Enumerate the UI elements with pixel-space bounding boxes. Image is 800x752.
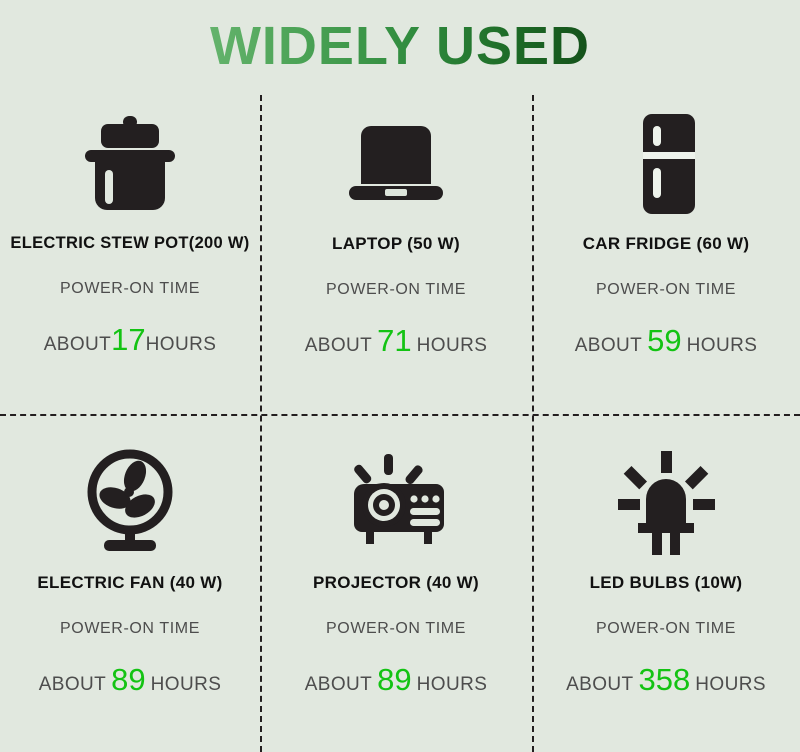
car-fridge-icon <box>629 100 703 228</box>
appliance-name: ELECTRIC STEW POT(200 W) <box>10 234 249 253</box>
laptop-icon <box>345 100 447 228</box>
power-on-time-value: ABOUT17HOURS <box>44 322 217 358</box>
about-prefix: ABOUT <box>305 335 372 357</box>
appliance-card-led-bulbs: LED BULBS (10W) POWER-ON TIME ABOUT358HO… <box>532 415 800 752</box>
hours-unit: HOURS <box>417 674 488 696</box>
hours-number: 17 <box>111 322 145 358</box>
hours-unit: HOURS <box>687 335 758 357</box>
appliance-name: LAPTOP (50 W) <box>332 234 460 254</box>
appliance-grid: ELECTRIC STEW POT(200 W) POWER-ON TIME A… <box>0 92 800 752</box>
horizontal-divider <box>0 414 800 416</box>
power-on-time-label: POWER-ON TIME <box>60 620 200 638</box>
stew-pot-icon <box>79 100 181 228</box>
appliance-name: LED BULBS (10W) <box>590 573 743 593</box>
appliance-card-laptop: LAPTOP (50 W) POWER-ON TIME ABOUT71HOURS <box>260 92 532 415</box>
about-prefix: ABOUT <box>566 674 633 696</box>
appliance-name: PROJECTOR (40 W) <box>313 573 479 593</box>
hours-number: 89 <box>377 662 411 698</box>
hours-unit: HOURS <box>151 674 222 696</box>
appliance-card-electric-fan: ELECTRIC FAN (40 W) POWER-ON TIME ABOUT8… <box>0 415 260 752</box>
vertical-divider-1 <box>260 95 262 752</box>
power-on-time-label: POWER-ON TIME <box>326 620 466 638</box>
about-prefix: ABOUT <box>575 335 642 357</box>
electric-fan-icon <box>80 437 180 567</box>
hours-unit: HOURS <box>146 334 217 356</box>
about-prefix: ABOUT <box>39 674 106 696</box>
hours-number: 89 <box>111 662 145 698</box>
page-title: WIDELY USED <box>210 19 590 73</box>
appliance-name: ELECTRIC FAN (40 W) <box>37 573 222 593</box>
hours-number: 358 <box>639 662 691 698</box>
power-on-time-label: POWER-ON TIME <box>596 281 736 299</box>
about-prefix: ABOUT <box>44 334 111 356</box>
appliance-card-projector: PROJECTOR (40 W) POWER-ON TIME ABOUT89HO… <box>260 415 532 752</box>
power-on-time-value: ABOUT71HOURS <box>305 323 488 359</box>
led-bulbs-icon <box>614 437 718 567</box>
power-on-time-label: POWER-ON TIME <box>596 620 736 638</box>
appliance-name: CAR FRIDGE (60 W) <box>583 234 750 254</box>
hours-unit: HOURS <box>695 674 766 696</box>
vertical-divider-2 <box>532 95 534 752</box>
header: WIDELY USED <box>0 0 800 92</box>
power-on-time-value: ABOUT89HOURS <box>305 662 488 698</box>
projector-icon <box>340 437 452 567</box>
power-on-time-value: ABOUT89HOURS <box>39 662 222 698</box>
hours-number: 59 <box>647 323 681 359</box>
power-on-time-value: ABOUT59HOURS <box>575 323 758 359</box>
appliance-card-car-fridge: CAR FRIDGE (60 W) POWER-ON TIME ABOUT59H… <box>532 92 800 415</box>
hours-unit: HOURS <box>417 335 488 357</box>
power-on-time-label: POWER-ON TIME <box>326 281 466 299</box>
power-on-time-value: ABOUT358HOURS <box>566 662 766 698</box>
about-prefix: ABOUT <box>305 674 372 696</box>
hours-number: 71 <box>377 323 411 359</box>
power-on-time-label: POWER-ON TIME <box>60 280 200 298</box>
appliance-card-electric-stew-pot: ELECTRIC STEW POT(200 W) POWER-ON TIME A… <box>0 92 260 415</box>
